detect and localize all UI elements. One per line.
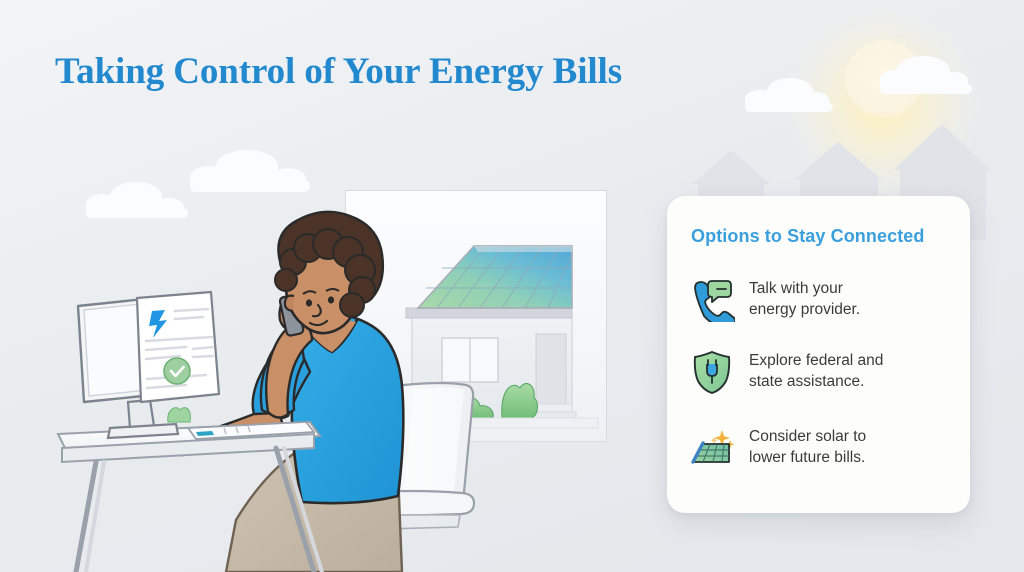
- desk: [58, 422, 322, 572]
- option-line1: Consider solar to: [749, 426, 866, 447]
- energy-bill-document: [137, 292, 219, 402]
- small-bush-left: [166, 398, 192, 424]
- house-with-solar-panels: [400, 232, 600, 440]
- solar-panel-icon: [689, 424, 735, 470]
- computer-monitor: [78, 292, 219, 438]
- option-item-solar[interactable]: Consider solar to lower future bills.: [689, 424, 951, 470]
- option-line2: lower future bills.: [749, 447, 866, 468]
- phone-chat-icon: [689, 276, 735, 322]
- options-card: Options to Stay Connected Talk with your…: [667, 196, 970, 513]
- page-title: Taking Control of Your Energy Bills: [55, 50, 622, 93]
- option-line1: Explore federal and: [749, 350, 883, 371]
- option-text: Consider solar to lower future bills.: [749, 424, 866, 469]
- option-text: Explore federal and state assistance.: [749, 348, 883, 393]
- option-item-assistance[interactable]: Explore federal and state assistance.: [689, 348, 951, 394]
- card-heading: Options to Stay Connected: [691, 226, 925, 247]
- check-circle-icon: [164, 358, 190, 384]
- keyboard: [188, 422, 314, 439]
- lightning-bolt-icon: [149, 310, 167, 338]
- option-text: Talk with your energy provider.: [749, 276, 860, 321]
- option-line1: Talk with your: [749, 278, 860, 299]
- option-line2: energy provider.: [749, 299, 860, 320]
- mobile-phone: [279, 295, 304, 337]
- shield-plug-icon: [689, 348, 735, 394]
- illustration-canvas: Taking Control of Your Energy Bills Opti…: [0, 0, 1024, 572]
- option-item-talk[interactable]: Talk with your energy provider.: [689, 276, 951, 322]
- option-line2: state assistance.: [749, 371, 883, 392]
